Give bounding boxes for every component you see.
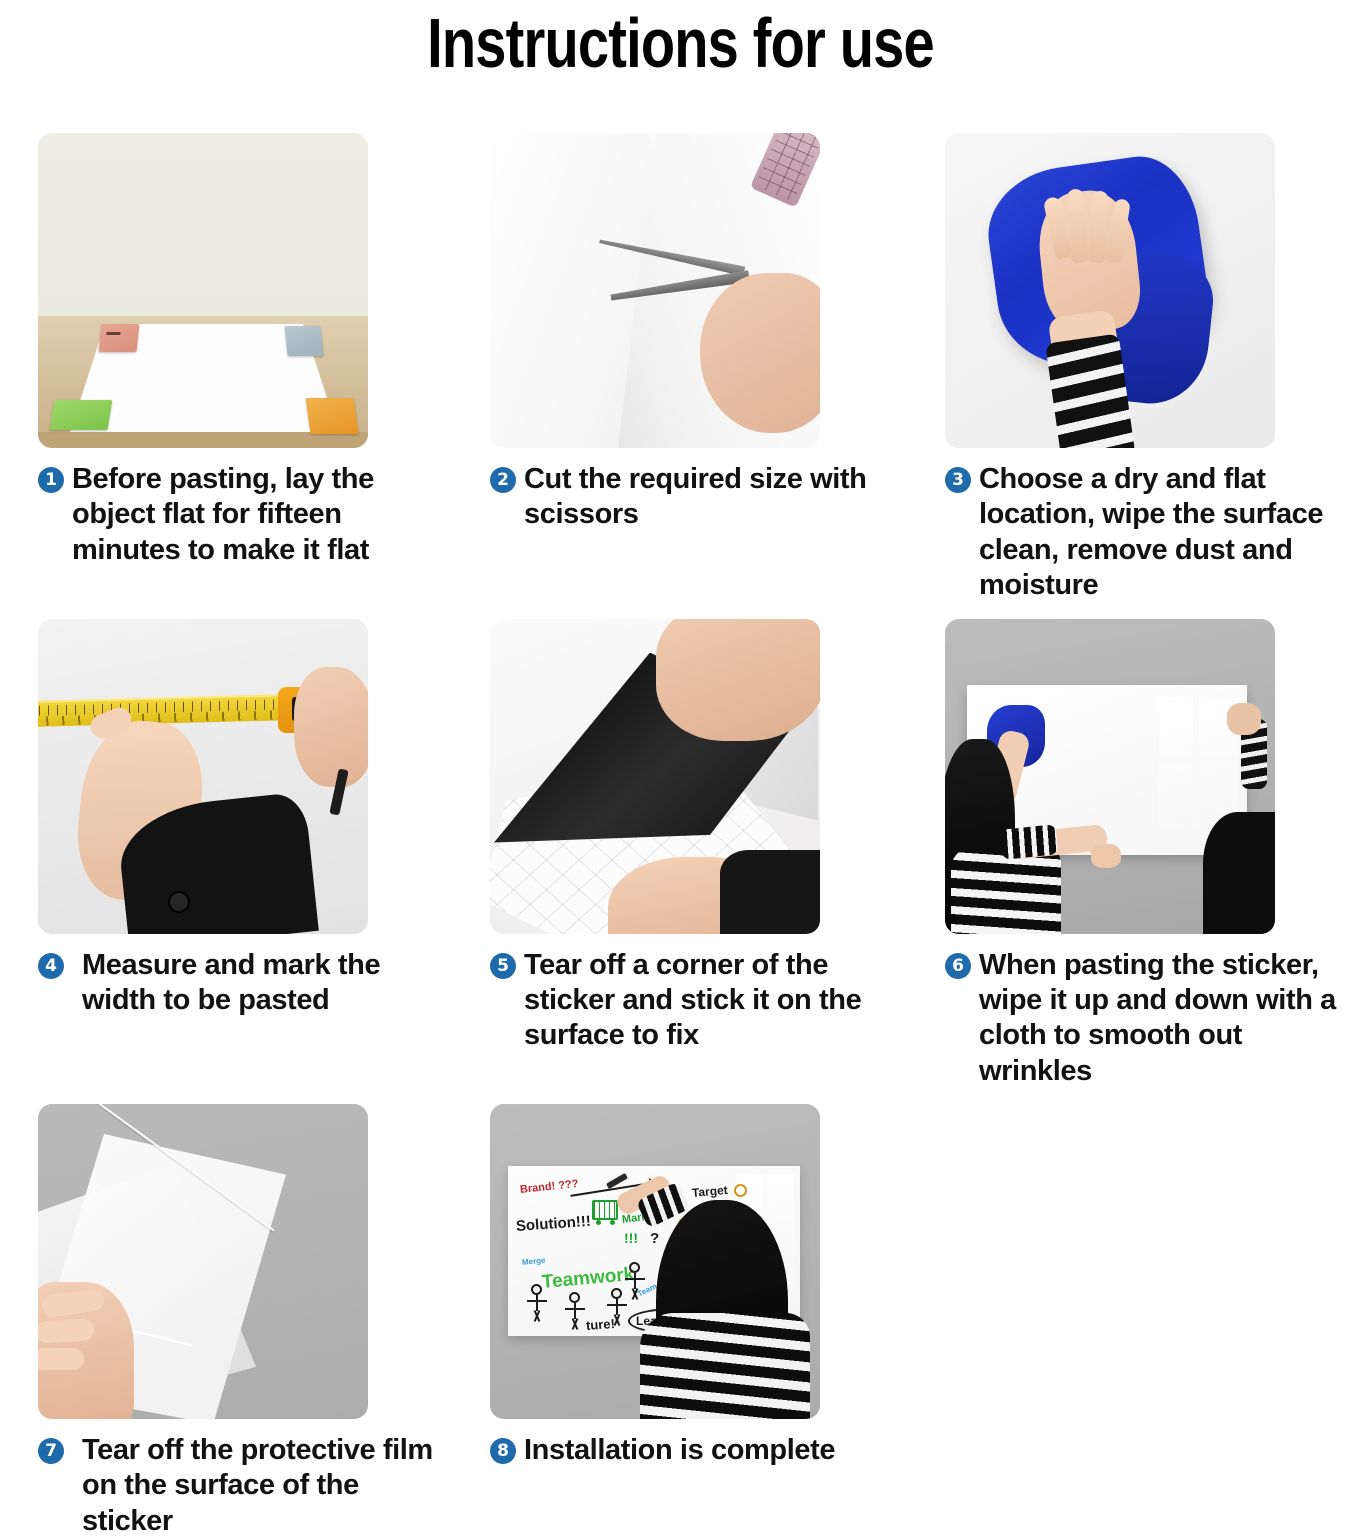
note-target: Target [691, 1183, 728, 1200]
step-8-badge: 8 [490, 1438, 516, 1464]
step-6-caption: 6 When pasting the sticker, wipe it up a… [945, 948, 1353, 1090]
green-notebook [50, 400, 113, 430]
blue-notebook [284, 326, 323, 356]
step-2-text: Cut the required size with scissors [524, 462, 902, 533]
note-future: ture! [585, 1316, 615, 1333]
step-3-photo [945, 133, 1275, 448]
step-5-badge: 5 [490, 953, 516, 979]
window-reflection [1159, 697, 1237, 827]
step-5-photo [490, 619, 820, 934]
helper-person [1203, 812, 1275, 934]
empty-cell [910, 1089, 1361, 1539]
step-item-1: 1 Before pasting, lay the object flat fo… [0, 118, 455, 604]
note-merge: Merge [522, 1256, 546, 1267]
table-edge [38, 432, 368, 448]
step-1-photo [38, 133, 368, 448]
step-5-caption: 5 Tear off a corner of the sticker and s… [490, 948, 902, 1054]
step-3-caption: 3 Choose a dry and flat location, wipe t… [945, 462, 1353, 604]
step-2-photo [490, 133, 820, 448]
orange-notebook [305, 398, 358, 434]
shopping-cart-icon [592, 1200, 618, 1220]
step-7-photo [38, 1104, 368, 1419]
woman-striped-sleeve [1000, 824, 1059, 860]
step-item-5: 5 Tear off a corner of the sticker and s… [455, 604, 910, 1090]
woman-striped-top [640, 1313, 810, 1419]
step-5-text: Tear off a corner of the sticker and sti… [524, 948, 902, 1054]
step-4-photo [38, 619, 368, 934]
woman-striped-top [951, 847, 1061, 934]
note-exclaim: !!! [624, 1230, 638, 1246]
finger [38, 1318, 95, 1344]
note-brand: Brand! ??? [519, 1178, 579, 1196]
step-7-badge: 7 [38, 1438, 64, 1464]
step-1-caption: 1 Before pasting, lay the object flat fo… [38, 462, 447, 568]
step-4-badge: 4 [38, 953, 64, 979]
step-item-3: 3 Choose a dry and flat location, wipe t… [910, 118, 1361, 604]
page-title: Instructions for use [136, 0, 1225, 78]
step-item-8: Brand! ??? Solution!!! how? Market !!! ?… [455, 1089, 910, 1539]
steps-grid: 1 Before pasting, lay the object flat fo… [0, 118, 1361, 1539]
hand-upper [656, 619, 820, 741]
woman-hand [1091, 844, 1121, 868]
sleeve-button [168, 891, 190, 913]
step-1-badge: 1 [38, 467, 64, 493]
step-4-text: Measure and mark the width to be pasted [82, 948, 447, 1019]
hand-right [294, 667, 368, 787]
step-2-caption: 2 Cut the required size with scissors [490, 462, 902, 533]
step-item-6: 6 When pasting the sticker, wipe it up a… [910, 604, 1361, 1090]
step-4-caption: 4 Measure and mark the width to be paste… [38, 948, 447, 1019]
step-3-text: Choose a dry and flat location, wipe the… [979, 462, 1353, 604]
pink-notebook [99, 324, 140, 352]
step-8-photo: Brand! ??? Solution!!! how? Market !!! ?… [490, 1104, 820, 1419]
dark-sleeve [720, 850, 820, 934]
finger [38, 1348, 84, 1370]
note-team: Team [636, 1282, 658, 1299]
step-item-2: 2 Cut the required size with scissors [455, 118, 910, 604]
step-item-4: 4 Measure and mark the width to be paste… [0, 604, 455, 1090]
step-6-badge: 6 [945, 953, 971, 979]
step-3-badge: 3 [945, 467, 971, 493]
step-6-text: When pasting the sticker, wipe it up and… [979, 948, 1353, 1090]
step-1-text: Before pasting, lay the object flat for … [72, 462, 447, 568]
step-item-7: 7 Tear off the protective film on the su… [0, 1089, 455, 1539]
step-6-photo [945, 619, 1275, 934]
step-8-caption: 8 Installation is complete [490, 1433, 902, 1468]
note-question: ? [650, 1230, 659, 1247]
step-2-badge: 2 [490, 467, 516, 493]
smiley-icon [734, 1184, 747, 1197]
step-8-text: Installation is complete [524, 1433, 835, 1468]
note-solution: Solution!!! [515, 1213, 591, 1235]
helper-hand [1227, 703, 1261, 735]
